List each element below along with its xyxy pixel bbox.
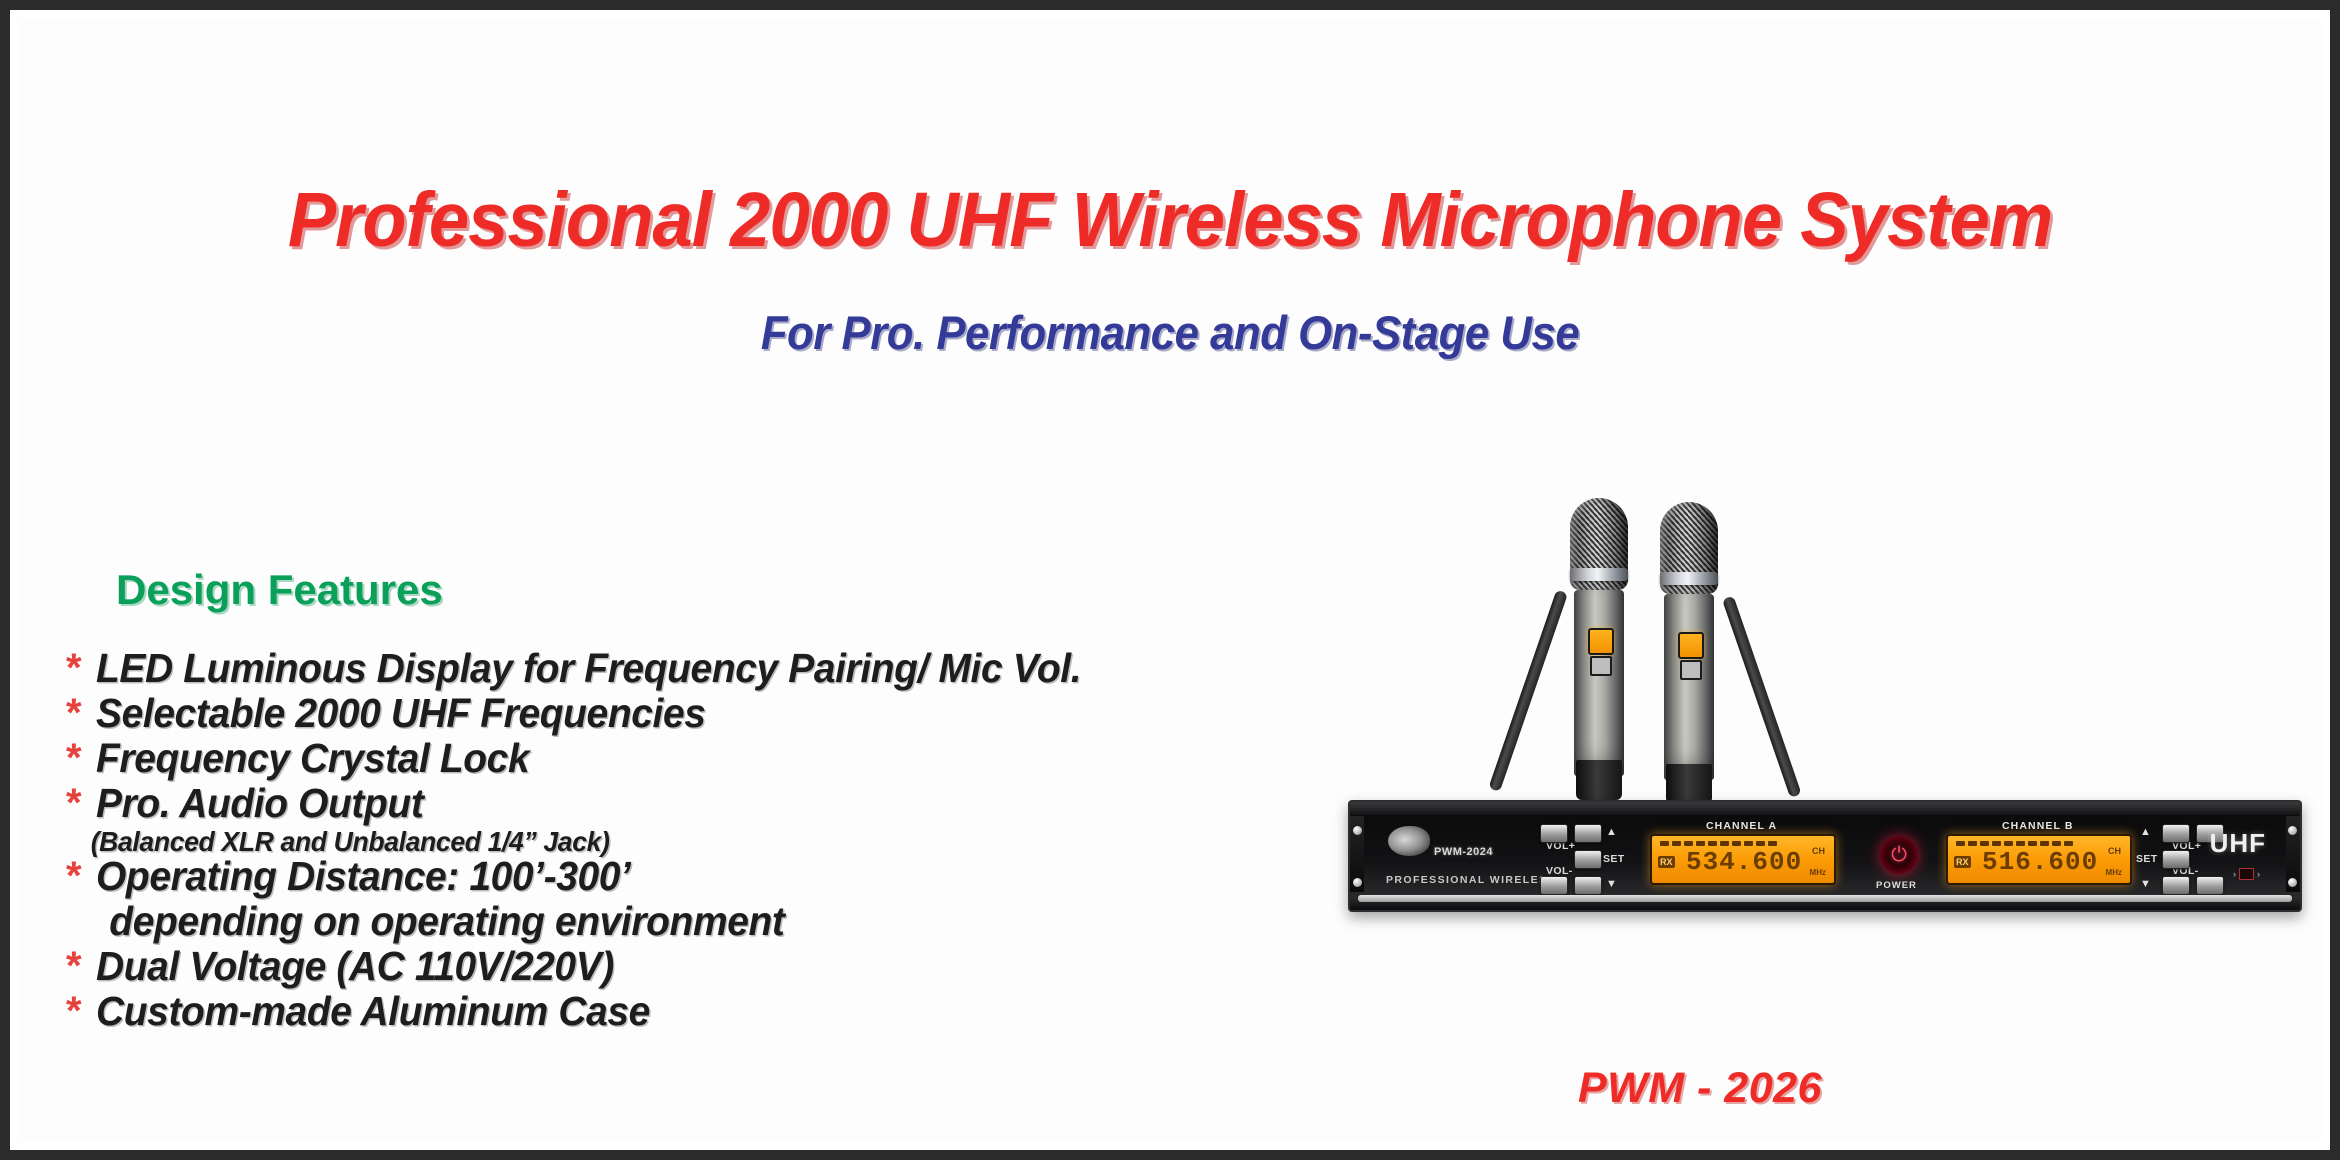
mic-base-cap [1576,760,1622,800]
mic-body [1664,594,1714,780]
list-item: * Custom-made Aluminum Case [66,991,1366,1032]
chevron-down-icon: ▼ [1606,879,1617,890]
channel-b-frequency-value: 516.600 [1982,849,2098,875]
channel-b-down-button[interactable] [2162,876,2190,895]
design-features-heading: Design Features [116,566,443,614]
channel-a-down-button[interactable] [1574,876,1602,895]
channel-a-heading: CHANNEL A [1706,820,1777,832]
channel-a-up-button[interactable] [1574,824,1602,843]
channel-b-set-button[interactable] [2162,850,2190,869]
product-model-caption: PWM - 2026 [1578,1064,1822,1113]
antenna-left-icon [1488,589,1568,791]
channel-b-heading: CHANNEL B [2002,820,2074,832]
channel-b-signal-bars-icon [1956,841,2073,846]
page-subtitle: For Pro. Performance and On-Stage Use [99,305,2242,360]
bullet-asterisk-icon: * [66,648,92,688]
chevron-up-icon: ▲ [1606,827,1617,838]
feature-text: Custom-made Aluminum Case [96,991,650,1032]
meter-block [2239,868,2254,880]
mic-base-cap [1666,764,1712,804]
feature-text: Selectable 2000 UHF Frequencies [96,693,706,734]
mic-collar-ring [1660,572,1718,585]
channel-a-lcd-panel: CH RX 534.600 MHz [1650,834,1836,885]
feature-text: Pro. Audio Output [96,783,423,824]
poster-inner-frame: Professional 2000 UHF Wireless Microphon… [16,16,2324,1144]
receiver-model-label: PWM-2024 [1434,846,1493,858]
feature-text: LED Luminous Display for Frequency Pairi… [96,648,1081,689]
meter-tick-right: › [2257,869,2260,879]
feature-text: Operating Distance: 100’-300’ [96,856,630,897]
list-item-subnote: (Balanced XLR and Unbalanced 1/4” Jack) [66,828,1366,856]
chevron-up-icon: ▲ [2140,827,2151,838]
channel-a-set-label: SET [1603,853,1625,865]
channel-b-lcd-panel: CH RX 516.600 MHz [1946,834,2132,885]
rack-screw-icon [2288,826,2297,835]
feature-text: Frequency Crystal Lock [96,738,529,779]
channel-a-ch-tag: CH [1812,846,1825,856]
rack-screw-icon [1353,826,1362,835]
channel-a-frequency-value: 534.600 [1686,849,1802,875]
channel-b-vol-down-button[interactable] [2196,876,2224,895]
feature-subnote-text: (Balanced XLR and Unbalanced 1/4” Jack) [66,828,610,856]
channel-a-rx-tag: RX [1658,856,1675,868]
channel-b-frequency-unit: MHz [2106,868,2122,877]
list-item-continuation: depending on operating environment [66,901,1366,942]
mic-collar-ring [1570,568,1628,581]
rack-screw-icon [1353,878,1362,887]
channel-a-signal-bars-icon [1660,841,1777,846]
mic-body [1574,590,1624,776]
antenna-right-icon [1722,595,1802,797]
feature-text: Dual Voltage (AC 110V/220V) [96,946,614,987]
list-item: * Operating Distance: 100’-300’ [66,856,1366,897]
bullet-asterisk-icon: * [66,783,92,823]
receiver-top-edge [1350,802,2300,815]
channel-a-frequency-unit: MHz [1810,868,1826,877]
mic-lcd-display [1588,628,1614,655]
channel-b-up-button[interactable] [2162,824,2190,843]
feature-list: * LED Luminous Display for Frequency Pai… [66,648,1366,1036]
bullet-asterisk-icon: * [66,738,92,778]
list-item: * Dual Voltage (AC 110V/220V) [66,946,1366,987]
receiver-bottom-trim [1358,895,2292,902]
bullet-asterisk-icon: * [66,991,92,1031]
bullet-asterisk-icon: * [66,693,92,733]
list-item: * Frequency Crystal Lock [66,738,1366,779]
power-label: POWER [1876,880,1917,891]
channel-a-vol-down-button[interactable] [1540,876,1568,895]
meter-tick-left: › [2233,869,2236,879]
mic-button-pad [1590,656,1612,676]
power-button[interactable]: ⏻ [1880,836,1918,874]
power-icon: ⏻ [1891,845,1907,865]
list-item: * Pro. Audio Output [66,783,1366,824]
chevron-down-icon: ▼ [2140,879,2151,890]
bullet-asterisk-icon: * [66,856,92,896]
rack-screw-icon [2288,878,2297,887]
list-item: * Selectable 2000 UHF Frequencies [66,693,1366,734]
mic-button-pad [1680,660,1702,680]
channel-b-ch-tag: CH [2108,846,2121,856]
receiver-brand-subtitle: PROFESSIONAL WIRELESS [1386,874,1556,886]
antenna-indicator-icon: › › [2233,868,2260,880]
product-poster: Professional 2000 UHF Wireless Microphon… [0,0,2340,1160]
mic-lcd-display [1678,632,1704,659]
feature-continuation-text: depending on operating environment [96,901,785,942]
bullet-asterisk-icon: * [66,946,92,986]
uhf-badge: UHF [2210,828,2266,859]
channel-a-vol-up-button[interactable] [1540,824,1568,843]
product-photo: PWM-2024 PROFESSIONAL WIRELESS VOL+ VOL-… [1338,498,2318,1058]
channel-b-rx-tag: RX [1954,856,1971,868]
brand-logo-icon [1388,826,1430,856]
channel-b-set-label: SET [2136,853,2158,865]
channel-a-set-button[interactable] [1574,850,1602,869]
list-item: * LED Luminous Display for Frequency Pai… [66,648,1366,689]
page-title: Professional 2000 UHF Wireless Microphon… [87,176,2253,265]
receiver-rack-unit: PWM-2024 PROFESSIONAL WIRELESS VOL+ VOL-… [1348,800,2302,912]
